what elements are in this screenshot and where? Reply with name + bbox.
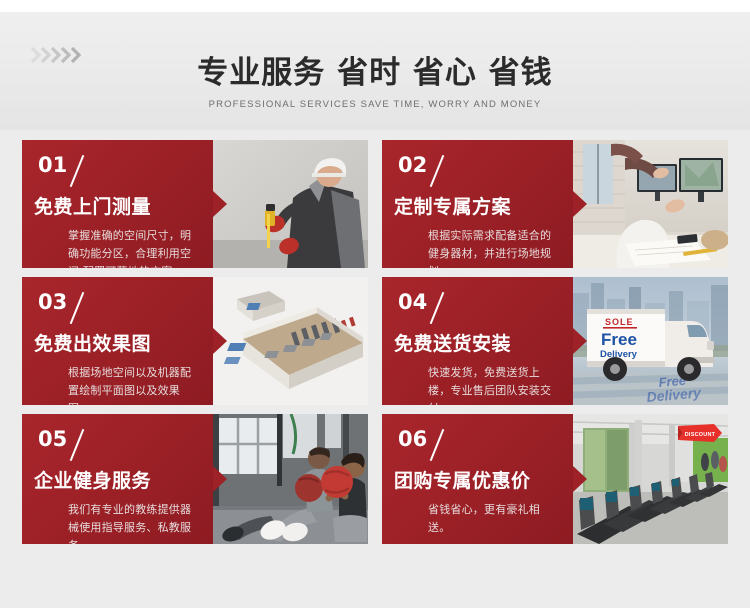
delivery-truck-photo: Free Delivery SOLE Free Delivery bbox=[573, 277, 728, 405]
svg-text:Free: Free bbox=[601, 330, 637, 349]
slash-divider-icon bbox=[67, 428, 85, 462]
discount-ribbon-label: DISCOUNT bbox=[685, 432, 716, 438]
card-number: 05 bbox=[38, 428, 67, 450]
card-heading-row: 03 bbox=[38, 291, 199, 325]
feature-card-03[interactable]: 03 免费出效果图 根据场地空间以及机器配置绘制平面图以及效果图。 bbox=[22, 277, 368, 405]
card-title: 企业健身服务 bbox=[34, 471, 199, 492]
card-text-panel: 03 免费出效果图 根据场地空间以及机器配置绘制平面图以及效果图。 bbox=[22, 277, 213, 405]
page-header: 专业服务 省时 省心 省钱 PROFESSIONAL SERVICES SAVE… bbox=[0, 12, 750, 130]
card-heading-row: 02 bbox=[398, 154, 559, 188]
card-description: 我们有专业的教练提供器械使用指导服务、私教服务。 bbox=[68, 501, 199, 544]
card-number: 02 bbox=[398, 154, 427, 176]
page-subtitle: PROFESSIONAL SERVICES SAVE TIME, WORRY A… bbox=[0, 99, 750, 110]
panel-arrow-icon bbox=[213, 466, 227, 492]
card-number: 03 bbox=[38, 291, 67, 313]
card-heading-row: 04 bbox=[398, 291, 559, 325]
slash-divider-icon bbox=[67, 291, 85, 325]
designers-at-desk-photo bbox=[573, 140, 728, 268]
card-description: 根据场地空间以及机器配置绘制平面图以及效果图。 bbox=[68, 364, 199, 405]
feature-card-05[interactable]: 05 企业健身服务 我们有专业的教练提供器械使用指导服务、私教服务。 bbox=[22, 414, 368, 544]
feature-card-01[interactable]: 01 免费上门测量 掌握准确的空间尺寸，明确功能分区，合理利用空间,配置可落地的… bbox=[22, 140, 368, 268]
slash-divider-icon bbox=[427, 428, 445, 462]
slash-divider-icon bbox=[67, 154, 85, 188]
panel-arrow-icon bbox=[573, 328, 587, 354]
group-workout-medicine-ball-photo bbox=[213, 414, 368, 544]
card-title: 团购专属优惠价 bbox=[394, 471, 559, 492]
card-title: 免费上门测量 bbox=[34, 197, 199, 218]
card-number: 04 bbox=[398, 291, 427, 313]
feature-card-04[interactable]: 04 免费送货安装 快速发货，免费送货上楼，专业售后团队安装交付。 bbox=[382, 277, 728, 405]
card-title: 免费出效果图 bbox=[34, 334, 199, 355]
card-description: 快速发货，免费送货上楼，专业售后团队安装交付。 bbox=[428, 364, 559, 405]
panel-arrow-icon bbox=[573, 466, 587, 492]
card-heading-row: 05 bbox=[38, 428, 199, 462]
panel-arrow-icon bbox=[213, 328, 227, 354]
feature-card-02[interactable]: 02 定制专属方案 根据实际需求配备适合的健身器材，并进行场地规划。 bbox=[382, 140, 728, 268]
panel-arrow-icon bbox=[213, 191, 227, 217]
svg-text:SOLE: SOLE bbox=[605, 317, 634, 327]
feature-card-06[interactable]: 06 团购专属优惠价 省钱省心，更有豪礼相送。 bbox=[382, 414, 728, 544]
card-title: 免费送货安装 bbox=[394, 334, 559, 355]
card-description: 省钱省心，更有豪礼相送。 bbox=[428, 501, 559, 537]
card-title: 定制专属方案 bbox=[394, 197, 559, 218]
worker-measuring-wall-photo bbox=[213, 140, 368, 268]
page-title: 专业服务 省时 省心 省钱 bbox=[0, 56, 750, 92]
card-text-panel: 01 免费上门测量 掌握准确的空间尺寸，明确功能分区，合理利用空间,配置可落地的… bbox=[22, 140, 213, 268]
service-features-page: 专业服务 省时 省心 省钱 PROFESSIONAL SERVICES SAVE… bbox=[0, 0, 750, 608]
card-text-panel: 04 免费送货安装 快速发货，免费送货上楼，专业售后团队安装交付。 bbox=[382, 277, 573, 405]
card-text-panel: 05 企业健身服务 我们有专业的教练提供器械使用指导服务、私教服务。 bbox=[22, 414, 213, 544]
card-number: 01 bbox=[38, 154, 67, 176]
slash-divider-icon bbox=[427, 291, 445, 325]
card-heading-row: 06 bbox=[398, 428, 559, 462]
feature-card-grid: 01 免费上门测量 掌握准确的空间尺寸，明确功能分区，合理利用空间,配置可落地的… bbox=[22, 140, 728, 544]
card-heading-row: 01 bbox=[38, 154, 199, 188]
panel-arrow-icon bbox=[573, 191, 587, 217]
slash-divider-icon bbox=[427, 154, 445, 188]
card-description: 掌握准确的空间尺寸，明确功能分区，合理利用空间,配置可落地的方案。 bbox=[68, 227, 199, 268]
card-description: 根据实际需求配备适合的健身器材，并进行场地规划。 bbox=[428, 227, 559, 268]
card-text-panel: 02 定制专属方案 根据实际需求配备适合的健身器材，并进行场地规划。 bbox=[382, 140, 573, 268]
features-body: 01 免费上门测量 掌握准确的空间尺寸，明确功能分区，合理利用空间,配置可落地的… bbox=[0, 130, 750, 608]
card-number: 06 bbox=[398, 428, 427, 450]
card-text-panel: 06 团购专属优惠价 省钱省心，更有豪礼相送。 bbox=[382, 414, 573, 544]
gym-floorplan-3d-render bbox=[213, 277, 368, 405]
discount-ribbon-badge[interactable]: DISCOUNT bbox=[678, 424, 722, 442]
title-block: 专业服务 省时 省心 省钱 PROFESSIONAL SERVICES SAVE… bbox=[0, 56, 750, 110]
